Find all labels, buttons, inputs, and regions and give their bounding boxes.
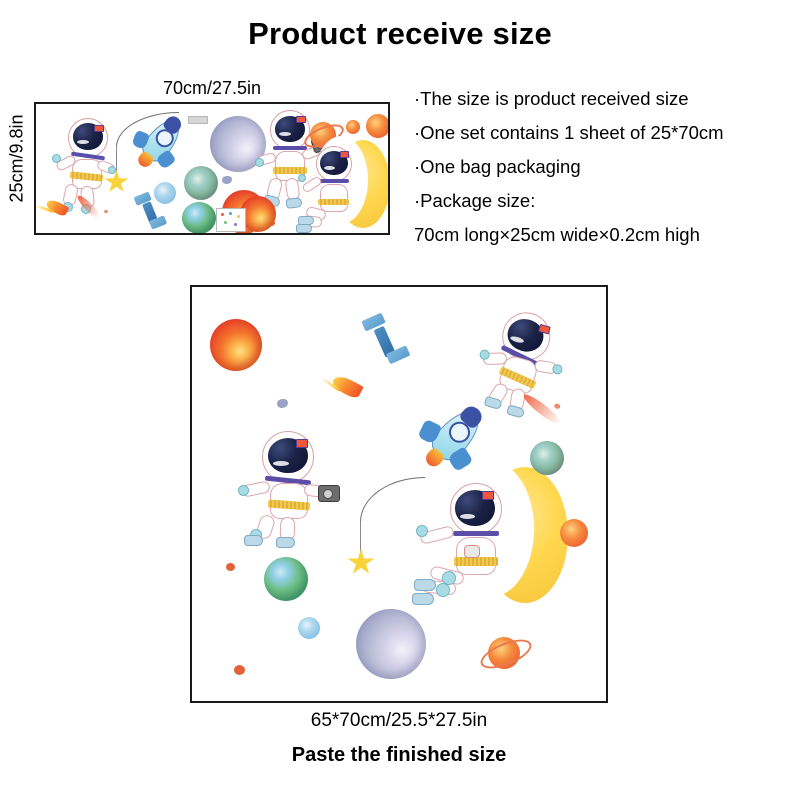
planet-blue-icon: [298, 617, 320, 639]
planet-earth-icon: [264, 557, 308, 601]
planet-teal-icon: [184, 166, 218, 200]
astronaut-floating-icon: [50, 118, 114, 214]
astronaut-flying-icon: [468, 299, 582, 420]
preview-size-label: 65*70cm/25.5*27.5in: [190, 710, 608, 732]
bullet-line-3: ·One bag packaging: [414, 150, 800, 184]
sticker-sheet-image: [34, 102, 390, 235]
asteroid-icon: [222, 176, 232, 184]
asteroid-small-2-icon: [234, 665, 245, 675]
asteroid-small-icon: [226, 563, 235, 571]
planet-small-red-icon: [346, 120, 360, 134]
sheet-height-label: 25cm/9.8in: [7, 99, 28, 219]
sheet-width-label: 70cm/27.5in: [34, 78, 390, 99]
asteroid-icon: [277, 399, 288, 408]
astronaut-floating-icon: [238, 429, 334, 537]
label-chip-icon: [188, 116, 208, 124]
bullet-line-5: 70cm long×25cm wide×0.2cm high: [414, 218, 800, 252]
product-info-list: ·The size is product received size ·One …: [414, 82, 800, 252]
preview-caption: Paste the finished size: [190, 744, 608, 767]
planet-teal-icon: [530, 441, 564, 475]
satellite-icon: [127, 190, 174, 234]
bullet-line-1: ·The size is product received size: [414, 82, 800, 116]
finished-preview-block: [190, 285, 608, 703]
planet-small-red-icon: [560, 519, 588, 547]
fishing-rod-icon: [360, 477, 425, 522]
planet-purple-icon: [356, 609, 426, 679]
planet-small-red-2-icon: [366, 114, 390, 138]
astronaut-on-moon-icon: [300, 146, 360, 232]
saturn-icon: [480, 631, 528, 675]
finished-preview-image: [190, 285, 608, 703]
bullet-line-4: ·Package size:: [414, 184, 800, 218]
confetti-card-icon: [216, 208, 246, 232]
page-title: Product receive size: [0, 16, 800, 52]
astronaut-on-moon-icon: [424, 483, 520, 609]
sticker-sheet-block: 70cm/27.5in 25cm/9.8in: [0, 78, 396, 243]
bullet-line-2: ·One set contains 1 sheet of 25*70cm: [414, 116, 800, 150]
star-icon: [347, 549, 375, 576]
planet-red-icon: [210, 319, 262, 371]
satellite-icon: [353, 312, 419, 373]
planet-earth-icon: [182, 202, 216, 234]
